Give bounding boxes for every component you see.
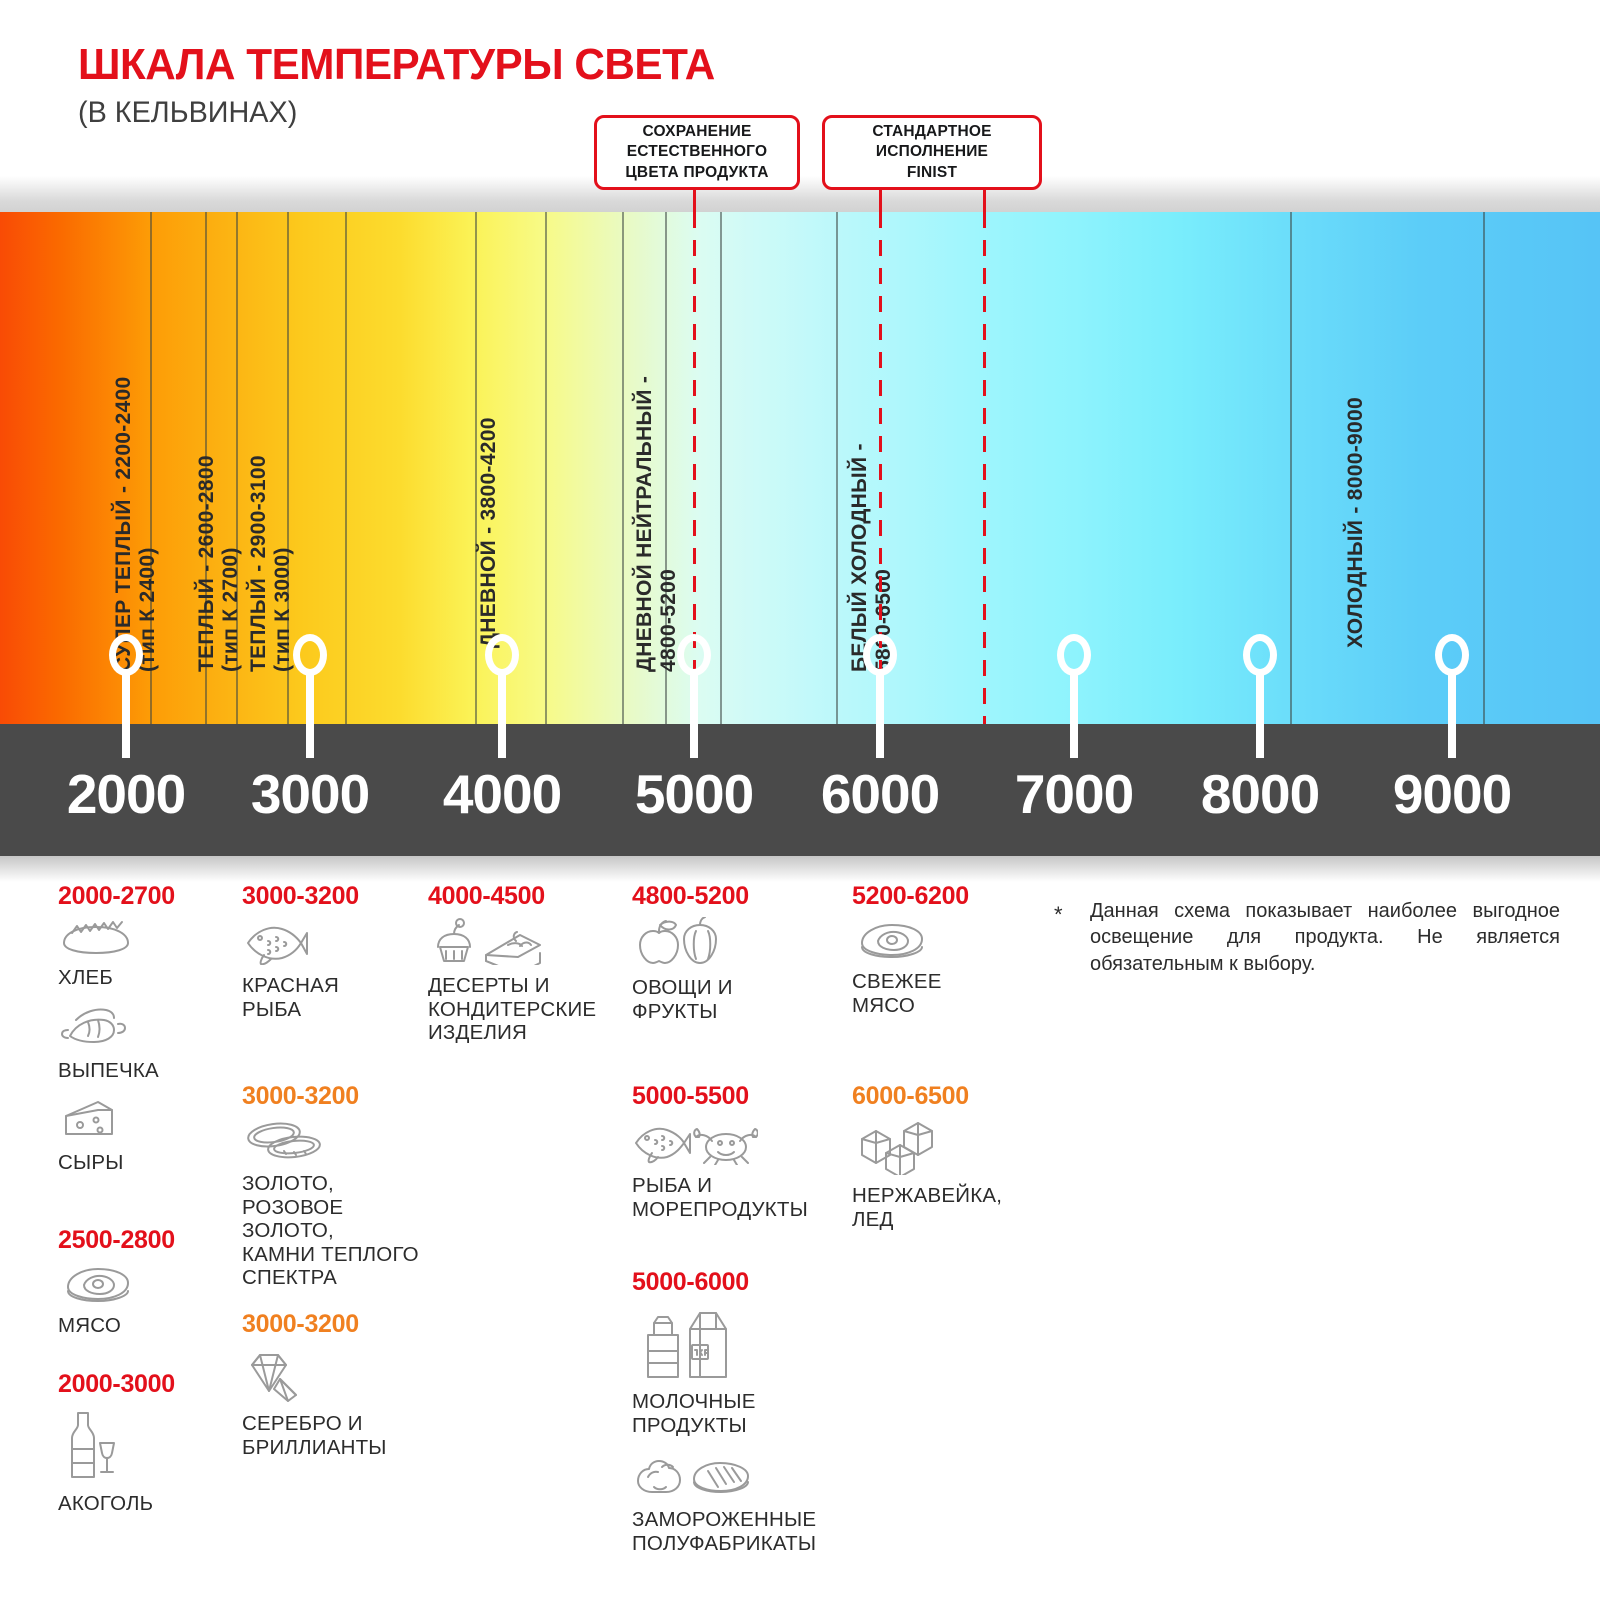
legend-group: 3000-3200КРАСНАЯ РЫБА [242,882,438,1033]
footnote: * Данная схема показывает наиболее выгод… [1054,898,1560,977]
zone-label-line1: ТЕПЛЫЙ - 2600-2800 [195,455,218,672]
legend-item-label: РЫБА И МОРЕПРОДУКТЫ [632,1174,848,1221]
zone-divider [622,212,624,724]
zone-label-warm-3000: ТЕПЛЫЙ - 2900-3100(тип К 3000) [247,455,295,672]
bread-icon [58,917,238,962]
legend-item-label: НЕРЖАВЕЙКА, ЛЕД [852,1184,1042,1231]
scale-value-7000: 7000 [1012,762,1136,826]
zone-label-line2: (тип К 2400) [136,377,160,673]
callout-stem [693,190,696,212]
legend-item-label: ОВОЩИ И ФРУКТЫ [632,976,848,1023]
scale-value-5000: 5000 [632,762,756,826]
scale-pin-8000 [1243,634,1277,760]
legend-range-label: 3000-3200 [242,1310,438,1339]
legend-range-label: 5000-6000 [632,1268,848,1297]
callout-finist-standard[interactable]: СТАНДАРТНОЕИСПОЛНЕНИЕFINIST [822,115,1042,190]
legend-group: 4000-4500ДЕСЕРТЫ И КОНДИТЕРСКИЕ ИЗДЕЛИЯ [428,882,628,1057]
zone-label-line1: ХОЛОДНЫЙ - 8000-9000 [1344,397,1367,648]
steak-icon [58,1261,238,1310]
scale-value-4000: 4000 [440,762,564,826]
zone-divider [720,212,722,724]
apple-pepper-icon [632,917,848,972]
callout-marker-line [983,212,986,724]
callout-text: СТАНДАРТНОЕИСПОЛНЕНИЕFINIST [872,122,991,183]
legend-group: 6000-6500НЕРЖАВЕЙКА, ЛЕД [852,1082,1042,1243]
legend-group: 5000-6000МОЛОЧНЫЕ ПРОДУКТЫЗАМОРОЖЕННЫЕ П… [632,1268,848,1567]
legend-item-label: ВЫПЕЧКА [58,1059,238,1083]
legend-item-label: ЗАМОРОЖЕННЫЕ ПОЛУФАБРИКАТЫ [632,1508,848,1555]
pin-stem [306,670,314,758]
scale-value-6000: 6000 [818,762,942,826]
legend-group: 2500-2800МЯСО [58,1226,238,1350]
zone-divider [345,212,347,724]
zone-label-line2: (тип К 3000) [271,455,295,672]
zone-label-line1: ТЕПЛЫЙ - 2900-3100 [247,455,270,672]
croissant-icon [58,1002,238,1055]
scale-pin-7000 [1057,634,1091,760]
callout-text: СОХРАНЕНИЕЕСТЕСТВЕННОГОЦВЕТА ПРОДУКТА [625,122,768,183]
pin-stem [498,670,506,758]
scale-pin-9000 [1435,634,1469,760]
zone-divider [1290,212,1292,724]
scale-pin-3000 [293,634,327,760]
diamond-icon [242,1345,438,1408]
legend-item-label: ДЕСЕРТЫ И КОНДИТЕРСКИЕ ИЗДЕЛИЯ [428,974,628,1045]
zone-label-line2: 4800-5200 [657,376,681,672]
bottle-glass-icon [58,1405,238,1488]
infographic-root: ШКАЛА ТЕМПЕРАТУРЫ СВЕТА (В КЕЛЬВИНАХ) СУ… [0,0,1600,1600]
scale-pin-5000 [677,634,711,760]
spectrum-band: СУПЕР ТЕПЛЫЙ - 2200-2400(тип К 2400)ТЕПЛ… [0,212,1600,724]
zone-label-line1: СУПЕР ТЕПЛЫЙ - 2200-2400 [112,377,135,673]
cupcake-cake-icon [428,917,628,970]
legend-range-label: 6000-6500 [852,1082,1042,1111]
band-bottom-shadow [0,856,1600,882]
legend-item-label: СЫРЫ [58,1151,238,1175]
zone-label-cold: ХОЛОДНЫЙ - 8000-9000 [1344,397,1368,648]
legend-range-label: 5200-6200 [852,882,1042,911]
page-title: ШКАЛА ТЕМПЕРАТУРЫ СВЕТА [78,40,715,90]
legend-range-label: 5000-5500 [632,1082,848,1111]
scale-value-8000: 8000 [1198,762,1322,826]
page-subtitle: (В КЕЛЬВИНАХ) [78,96,297,130]
rings-icon [242,1117,438,1168]
scale-pin-2000 [109,634,143,760]
fish-icon [242,917,438,970]
legend-range-label: 4800-5200 [632,882,848,911]
zone-label-line2: (тип К 2700) [219,455,243,672]
legend-group: 4800-5200ОВОЩИ И ФРУКТЫ [632,882,848,1035]
pin-stem [1070,670,1078,758]
legend-item-label: СВЕЖЕЕ МЯСО [852,970,1042,1017]
legend-range-label: 2500-2800 [58,1226,238,1255]
zone-divider [1483,212,1485,724]
legend-group: 2000-2700ХЛЕБВЫПЕЧКАСЫРЫ [58,882,238,1187]
legend-range-label: 2000-2700 [58,882,238,911]
milk-icon [632,1303,848,1386]
footnote-asterisk: * [1054,900,1063,929]
legend-range-label: 3000-3200 [242,1082,438,1111]
scale-pin-6000 [863,634,897,760]
pin-stem [122,670,130,758]
fish-crab-icon [632,1117,848,1170]
band-top-shadow [0,176,1600,212]
legend: 2000-2700ХЛЕБВЫПЕЧКАСЫРЫ2500-2800МЯСО200… [0,882,1600,1600]
callout-stem [983,190,986,212]
legend-item-label: ХЛЕБ [58,966,238,990]
zone-divider [545,212,547,724]
legend-item-label: СЕРЕБРО И БРИЛЛИАНТЫ [242,1412,438,1459]
zone-label-line1: ДНЕВНОЙ НЕЙТРАЛЬНЫЙ - [633,376,656,672]
zone-label-line1: ДНЕВНОЙ - 3800-4200 [477,417,500,648]
cheese-icon [58,1094,238,1147]
pin-stem [1256,670,1264,758]
footnote-text: Данная схема показывает наиболее выгодно… [1090,898,1560,977]
zone-label-super-warm: СУПЕР ТЕПЛЫЙ - 2200-2400(тип К 2400) [112,377,160,673]
legend-item-label: МОЛОЧНЫЕ ПРОДУКТЫ [632,1390,848,1437]
legend-group: 5000-5500РЫБА И МОРЕПРОДУКТЫ [632,1082,848,1233]
legend-range-label: 3000-3200 [242,882,438,911]
pin-stem [876,670,884,758]
scale-pin-4000 [485,634,519,760]
pin-stem [690,670,698,758]
callout-stem [879,190,882,212]
callout-natural-color[interactable]: СОХРАНЕНИЕЕСТЕСТВЕННОГОЦВЕТА ПРОДУКТА [594,115,800,190]
legend-group: 2000-3000АКОГОЛЬ [58,1370,238,1528]
frozen-food-icon [632,1449,848,1504]
scale-value-3000: 3000 [248,762,372,826]
steak-icon [852,917,1042,966]
zone-label-warm-2700: ТЕПЛЫЙ - 2600-2800(тип К 2700) [195,455,243,672]
legend-item-label: АКОГОЛЬ [58,1492,238,1516]
scale-value-2000: 2000 [64,762,188,826]
legend-group: 3000-3200СЕРЕБРО И БРИЛЛИАНТЫ [242,1310,438,1471]
legend-range-label: 2000-3000 [58,1370,238,1399]
legend-range-label: 4000-4500 [428,882,628,911]
legend-item-label: КРАСНАЯ РЫБА [242,974,438,1021]
legend-item-label: МЯСО [58,1314,238,1338]
kelvin-scale-strip [0,724,1600,856]
legend-group: 5200-6200СВЕЖЕЕ МЯСО [852,882,1042,1029]
pin-stem [1448,670,1456,758]
legend-item-label: ЗОЛОТО, РОЗОВОЕ ЗОЛОТО, КАМНИ ТЕПЛОГО СП… [242,1172,438,1290]
zone-label-daylight: ДНЕВНОЙ - 3800-4200 [477,417,501,648]
zone-label-daylight-neutral: ДНЕВНОЙ НЕЙТРАЛЬНЫЙ -4800-5200 [633,376,681,672]
legend-group: 3000-3200ЗОЛОТО, РОЗОВОЕ ЗОЛОТО, КАМНИ Т… [242,1082,438,1302]
scale-value-9000: 9000 [1390,762,1514,826]
ice-cubes-icon [852,1117,1042,1180]
zone-divider [836,212,838,724]
